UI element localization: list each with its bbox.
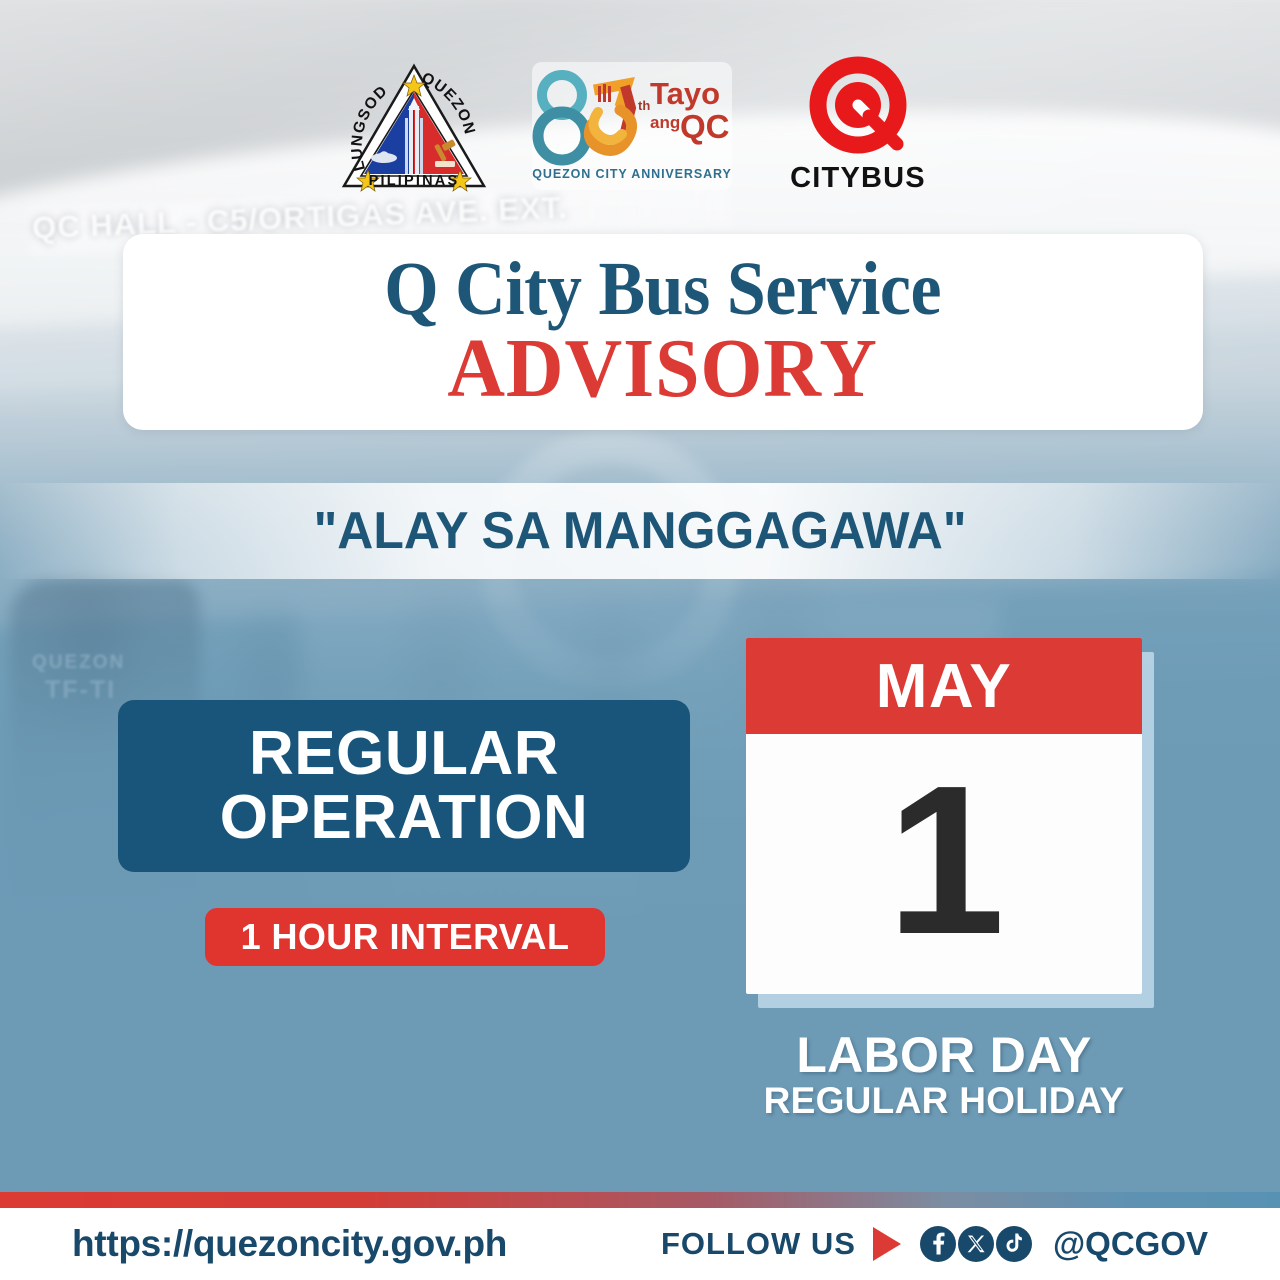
svg-text:Tayo: Tayo	[650, 76, 720, 111]
social-handle: @QCGOV	[1053, 1225, 1208, 1263]
x-twitter-icon[interactable]	[958, 1226, 994, 1262]
footer-social-group: FOLLOW US @QCG	[661, 1225, 1208, 1263]
calendar-month-header: MAY	[746, 638, 1142, 734]
anniversary-85th-icon: th Tayo ang QC QUEZON CITY ANNIVERSARY	[532, 62, 732, 190]
play-triangle-icon	[873, 1227, 901, 1261]
citybus-word-city: CITY	[790, 162, 861, 195]
footer-bar: https://quezoncity.gov.ph FOLLOW US	[0, 1208, 1280, 1280]
facebook-icon[interactable]	[920, 1226, 956, 1262]
page-title: Q City Bus Service	[385, 253, 942, 326]
website-url-link[interactable]: https://quezoncity.gov.ph	[72, 1223, 507, 1265]
svg-text:th: th	[638, 98, 650, 113]
advisory-title-card: Q City Bus Service ADVISORY	[123, 234, 1203, 430]
svg-text:ang: ang	[650, 113, 680, 132]
holiday-name: LABOR DAY	[746, 1026, 1142, 1084]
page-title-advisory: ADVISORY	[448, 327, 878, 411]
citybus-word-bus: BUS	[861, 162, 926, 195]
logo-row: LUNGSOD QUEZON PILIPINAS	[0, 52, 1280, 200]
citybus-logo: CITYBUS	[774, 56, 942, 196]
operation-status-box: REGULAR OPERATION	[118, 700, 690, 872]
operation-line-2: OPERATION	[220, 786, 588, 850]
subtitle-text: "ALAY SA MANGGAGAWA"	[314, 501, 967, 561]
citybus-wordmark: CITYBUS	[790, 162, 926, 195]
svg-text:QUEZON CITY ANNIVERSARY: QUEZON CITY ANNIVERSARY	[532, 167, 731, 181]
interval-badge-label: 1 HOUR INTERVAL	[241, 916, 570, 958]
calendar-day-number: 1	[887, 769, 1001, 951]
calendar-card: MAY 1	[746, 638, 1142, 994]
footer-accent-strip	[0, 1192, 1280, 1208]
social-icons	[920, 1226, 1032, 1262]
interval-badge: 1 HOUR INTERVAL	[205, 908, 605, 966]
q-circle-icon	[799, 56, 917, 160]
calendar-day-body: 1	[746, 734, 1142, 994]
calendar-month-label: MAY	[876, 651, 1013, 722]
subtitle-band: "ALAY SA MANGGAGAWA"	[0, 483, 1280, 579]
advisory-poster: QC HALL - C5/ORTIGAS AVE. EXT. QUEZON TF…	[0, 0, 1280, 1280]
svg-text:QC: QC	[680, 108, 730, 145]
tiktok-icon[interactable]	[996, 1226, 1032, 1262]
operation-line-1: REGULAR	[249, 722, 559, 786]
quezon-city-seal-icon: LUNGSOD QUEZON PILIPINAS	[338, 58, 490, 194]
follow-us-label: FOLLOW US	[661, 1226, 856, 1262]
svg-text:PILIPINAS: PILIPINAS	[369, 173, 460, 189]
holiday-type: REGULAR HOLIDAY	[726, 1080, 1162, 1122]
